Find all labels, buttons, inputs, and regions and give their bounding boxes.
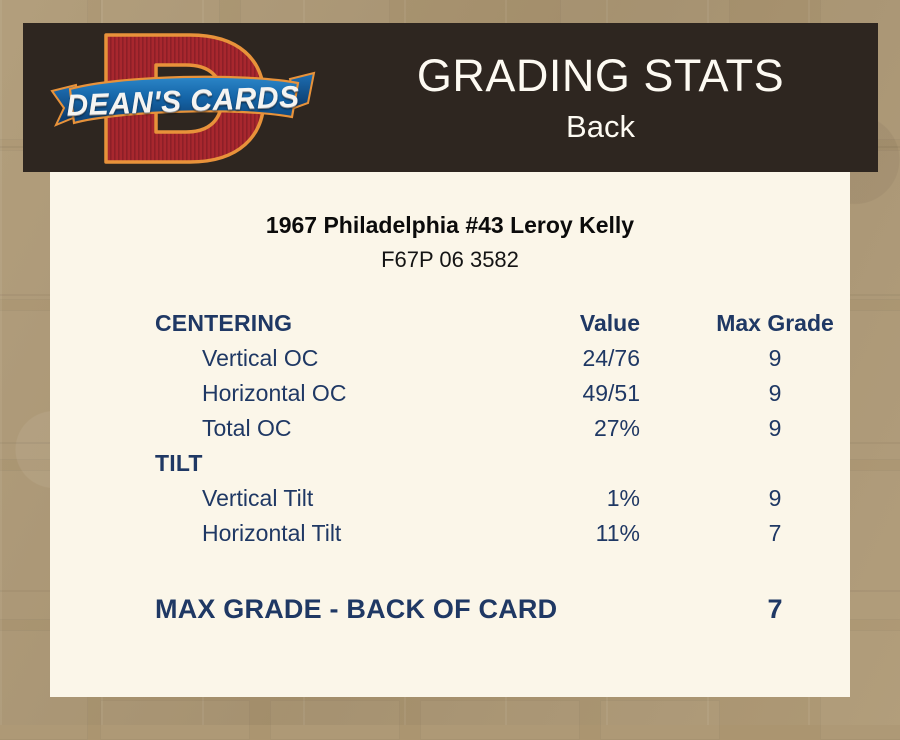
background-texture-card <box>600 700 720 740</box>
background-texture-card <box>420 700 580 740</box>
table-row: Vertical OC 24/76 9 <box>50 345 850 380</box>
table-row: Total OC 27% 9 <box>50 415 850 450</box>
background-texture-card <box>270 700 400 740</box>
card-title: 1967 Philadelphia #43 Leroy Kelly <box>50 212 850 239</box>
row-grade: 9 <box>680 415 870 442</box>
column-header-max-grade: Max Grade <box>680 310 870 337</box>
logo-ribbon-text: DEAN'S CARDS <box>49 66 317 138</box>
page-subtitle: Back <box>566 111 635 142</box>
page-background: DEAN'S CARDS GRADING STATS Back 1967 Phi… <box>0 0 900 725</box>
logo-ribbon: DEAN'S CARDS <box>50 71 316 133</box>
row-value: 1% <box>450 485 640 512</box>
column-header-value: Value <box>450 310 640 337</box>
page-title: GRADING STATS <box>417 53 784 98</box>
stats-panel: 1967 Philadelphia #43 Leroy Kelly F67P 0… <box>50 172 850 697</box>
final-grade-row: MAX GRADE - BACK OF CARD 7 <box>50 594 850 634</box>
row-value: 49/51 <box>450 380 640 407</box>
table-header-row: CENTERING Value Max Grade <box>50 310 850 345</box>
card-code: F67P 06 3582 <box>50 247 850 273</box>
deans-cards-logo[interactable]: DEAN'S CARDS <box>50 31 316 166</box>
section-heading-centering: CENTERING <box>155 310 485 337</box>
row-grade: 9 <box>680 345 870 372</box>
grading-stats-table: CENTERING Value Max Grade Vertical OC 24… <box>50 310 850 555</box>
table-row: Horizontal Tilt 11% 7 <box>50 520 850 555</box>
table-row: Vertical Tilt 1% 9 <box>50 485 850 520</box>
row-value: 24/76 <box>450 345 640 372</box>
row-grade: 9 <box>680 485 870 512</box>
row-value: 11% <box>450 520 640 547</box>
section-header-row: TILT <box>50 450 850 485</box>
background-texture-card <box>100 700 250 740</box>
final-grade-value: 7 <box>680 594 870 625</box>
header-bar: DEAN'S CARDS GRADING STATS Back <box>23 23 878 172</box>
section-heading-tilt: TILT <box>155 450 485 477</box>
row-value: 27% <box>450 415 640 442</box>
row-grade: 7 <box>680 520 870 547</box>
header-title-group: GRADING STATS Back <box>323 23 878 172</box>
table-row: Horizontal OC 49/51 9 <box>50 380 850 415</box>
row-grade: 9 <box>680 380 870 407</box>
final-grade-label: MAX GRADE - BACK OF CARD <box>155 594 557 625</box>
